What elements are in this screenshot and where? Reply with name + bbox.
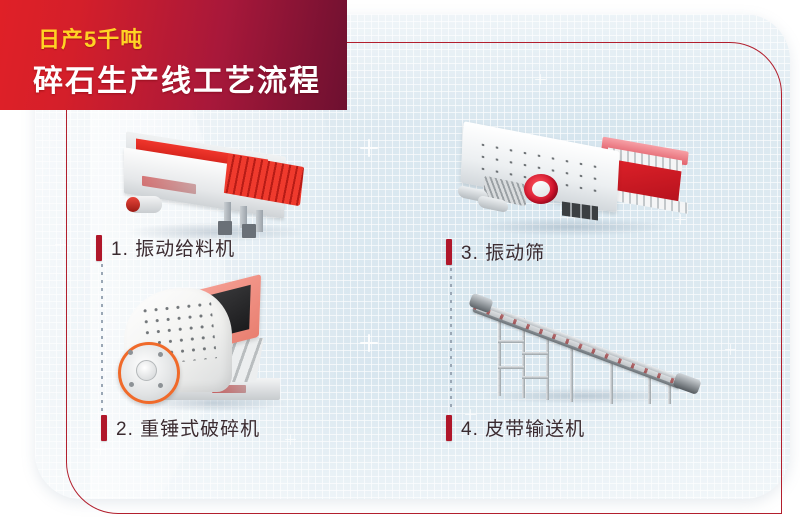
- conveyor-rung: [522, 352, 548, 355]
- conveyor-rung: [522, 376, 548, 379]
- connector-dotted-line-1: [101, 264, 103, 412]
- step-label-text: 4. 皮带输送机: [461, 414, 585, 441]
- accent-bar: [446, 239, 452, 265]
- drop-shadow: [480, 388, 686, 404]
- equipment-image-vibrating-screen: [452, 126, 692, 236]
- accent-bar: [101, 415, 107, 441]
- crusher-bolt: [129, 382, 134, 387]
- feeder-leg: [256, 210, 263, 232]
- step-label-4: 4. 皮带输送机: [446, 414, 585, 441]
- conveyor-rung: [498, 340, 524, 343]
- connector-dotted-line-2: [450, 268, 452, 412]
- crusher-bolt: [128, 350, 133, 355]
- crusher-hub: [136, 360, 157, 381]
- equipment-image-vibrating-feeder: [106, 136, 316, 236]
- drop-shadow: [472, 218, 672, 236]
- equipment-image-belt-conveyor: [470, 296, 700, 408]
- step-label-text: 3. 振动筛: [461, 238, 545, 265]
- feeder-motor-cap: [126, 197, 140, 212]
- feeder-foot: [242, 224, 256, 238]
- conveyor-rung: [498, 366, 524, 369]
- step-label-2: 2. 重锤式破碎机: [101, 414, 260, 441]
- screen-exciter-hub: [532, 181, 550, 197]
- banner-title: 碎石生产线工艺流程: [33, 56, 321, 100]
- step-label-text: 1. 振动给料机: [111, 234, 235, 261]
- step-label-text: 2. 重锤式破碎机: [116, 414, 260, 441]
- crusher-bolt: [158, 383, 163, 388]
- header-banner: 日产5千吨 碎石生产线工艺流程: [0, 0, 347, 110]
- accent-bar: [446, 415, 452, 441]
- conveyor-tail-pulley: [672, 372, 702, 395]
- step-label-1: 1. 振动给料机: [96, 234, 235, 261]
- crusher-bolt: [158, 352, 163, 357]
- step-label-3: 3. 振动筛: [446, 238, 545, 265]
- conveyor-leg: [498, 310, 501, 396]
- infographic-root: 1. 振动给料机 2. 重锤式破碎机 3. 振动筛 4. 皮带输送机 日产5千吨…: [0, 0, 800, 530]
- banner-subtitle: 日产5千吨: [38, 22, 143, 54]
- accent-bar: [96, 235, 102, 261]
- conveyor-belt-rollers: [473, 304, 683, 386]
- feeder-foot: [218, 221, 232, 235]
- equipment-image-hammer-crusher: [112, 282, 302, 410]
